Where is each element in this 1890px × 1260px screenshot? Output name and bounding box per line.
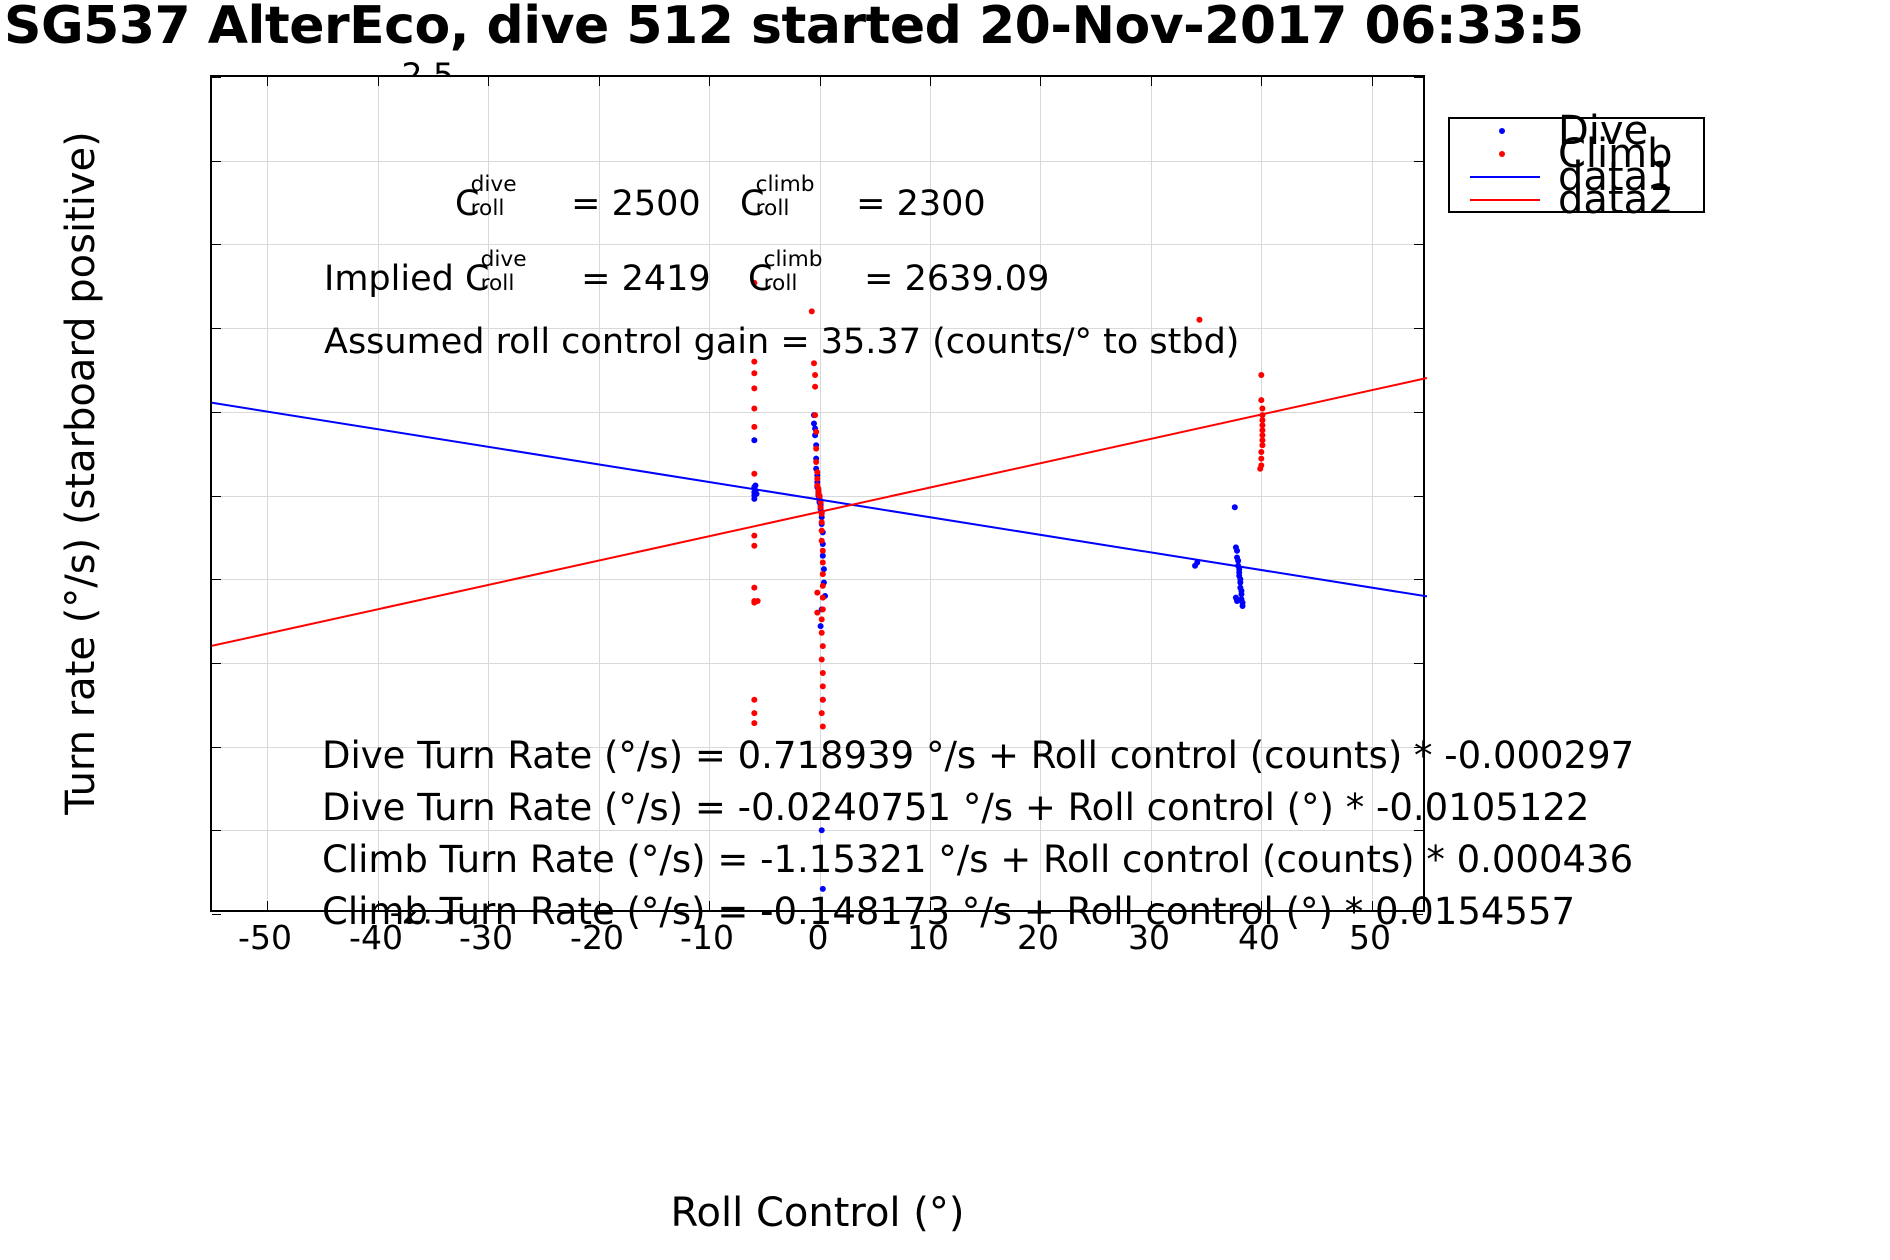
- legend-label: data2: [1558, 180, 1674, 220]
- y-axis-label: Turn rate (°/s) (starboard positive): [58, 68, 104, 878]
- data-point: [751, 720, 757, 726]
- y-tick: [1414, 244, 1423, 245]
- x-tick: [1151, 901, 1152, 910]
- data-point: [751, 437, 757, 443]
- data-point: [819, 710, 825, 716]
- x-tick: [1261, 77, 1262, 86]
- c-roll-dive-eq: =: [571, 184, 600, 224]
- y-tick: [212, 663, 221, 664]
- data-point: [820, 606, 826, 612]
- implied-climb-eq: =: [864, 259, 893, 299]
- x-tick: [820, 901, 821, 910]
- x-tick: [267, 77, 268, 86]
- data-point: [751, 533, 757, 539]
- data-point: [1234, 548, 1240, 554]
- data-point: [1258, 456, 1264, 462]
- annotation-c-roll-dive: Cdiveroll = 2500: [455, 187, 701, 222]
- x-tick-label: -50: [238, 918, 292, 957]
- data-point: [814, 590, 820, 596]
- y-tick: [212, 747, 221, 748]
- data-point: [813, 446, 819, 452]
- data-point: [820, 643, 826, 649]
- data-point: [820, 683, 826, 689]
- data-point: [820, 583, 826, 589]
- implied-dive-symbol: Cdiveroll: [465, 262, 570, 297]
- data-point: [751, 370, 757, 376]
- implied-dive-value: 2419: [622, 259, 711, 299]
- data-point: [751, 424, 757, 430]
- annotation-implied-dive: Implied Cdiveroll = 2419: [324, 262, 711, 297]
- x-tick: [820, 77, 821, 86]
- x-tick: [930, 901, 931, 910]
- x-axis-label: Roll Control (°): [210, 1190, 1425, 1236]
- y-tick: [212, 914, 221, 915]
- x-tick: [267, 901, 268, 910]
- data-point: [811, 421, 817, 427]
- data-point: [751, 405, 757, 411]
- y-tick: [212, 77, 221, 78]
- y-tick: [1414, 412, 1423, 413]
- data-point: [820, 548, 826, 554]
- x-tick: [1372, 901, 1373, 910]
- y-tick: [212, 496, 221, 497]
- data-point: [809, 308, 815, 314]
- data-point: [1259, 442, 1265, 448]
- data-point: [814, 610, 820, 616]
- annotation-roll-gain: Assumed roll control gain = 35.37 (count…: [324, 325, 1239, 360]
- x-tick: [488, 901, 489, 910]
- plot-area: Cdiveroll = 2500 Cclimbroll = 2300 Impli…: [210, 75, 1425, 912]
- figure-title: SG537 AlterEco, dive 512 started 20-Nov-…: [0, 0, 1890, 56]
- legend-marker-line-icon: [1470, 199, 1540, 201]
- y-tick: [1414, 579, 1423, 580]
- equation-line-0: Dive Turn Rate (°/s) = 0.718939 °/s + Ro…: [322, 737, 1634, 774]
- figure-root: SG537 AlterEco, dive 512 started 20-Nov-…: [0, 0, 1890, 1260]
- y-tick: [1414, 830, 1423, 831]
- x-tick: [709, 77, 710, 86]
- data-point: [819, 528, 825, 534]
- data-point: [818, 623, 824, 629]
- data-point: [1258, 372, 1264, 378]
- data-point: [1240, 603, 1246, 609]
- x-tick: [1040, 77, 1041, 86]
- regression-line-data1: [212, 403, 1427, 597]
- data-point: [819, 616, 825, 622]
- implied-prefix: Implied: [324, 259, 454, 299]
- x-tick: [599, 901, 600, 910]
- data-point: [812, 412, 818, 418]
- x-tick: [1372, 77, 1373, 86]
- data-point: [813, 459, 819, 465]
- x-tick: [378, 901, 379, 910]
- data-point: [751, 471, 757, 477]
- data-point: [819, 519, 825, 525]
- c-roll-climb-eq: =: [856, 184, 885, 224]
- legend-marker-dot-icon: [1499, 128, 1505, 134]
- y-tick: [212, 328, 221, 329]
- y-tick: [1414, 496, 1423, 497]
- data-point: [1257, 466, 1263, 472]
- data-point: [1259, 405, 1265, 411]
- data-point: [814, 469, 820, 475]
- y-tick: [1414, 663, 1423, 664]
- annotation-implied-climb: Cclimbroll = 2639.09: [748, 262, 1049, 297]
- data-point: [755, 598, 761, 604]
- equation-line-3: Climb Turn Rate (°/s) = -0.148173 °/s + …: [322, 893, 1575, 930]
- data-point: [1258, 449, 1264, 455]
- data-point: [751, 385, 757, 391]
- data-point: [1234, 598, 1240, 604]
- data-point: [820, 571, 826, 577]
- data-point: [820, 724, 826, 730]
- x-tick: [488, 77, 489, 86]
- data-point: [813, 429, 819, 435]
- c-roll-dive-value: 2500: [612, 184, 701, 224]
- y-tick: [1414, 161, 1423, 162]
- equation-line-2: Climb Turn Rate (°/s) = -1.15321 °/s + R…: [322, 841, 1633, 878]
- x-tick: [1261, 901, 1262, 910]
- y-tick: [212, 161, 221, 162]
- x-tick: [709, 901, 710, 910]
- y-tick: [1414, 914, 1423, 915]
- y-tick: [212, 579, 221, 580]
- y-tick: [212, 244, 221, 245]
- x-tick: [378, 77, 379, 86]
- data-point: [820, 595, 826, 601]
- c-roll-climb-value: 2300: [897, 184, 986, 224]
- data-point: [812, 384, 818, 390]
- y-tick: [1414, 77, 1423, 78]
- data-point: [819, 657, 825, 663]
- x-tick: [1151, 77, 1152, 86]
- y-tick: [212, 412, 221, 413]
- data-point: [751, 543, 757, 549]
- implied-dive-eq: =: [581, 259, 610, 299]
- x-tick: [1040, 901, 1041, 910]
- data-point: [819, 630, 825, 636]
- c-roll-climb-symbol: Cclimbroll: [740, 187, 845, 222]
- data-point: [1258, 397, 1264, 403]
- implied-climb-value: 2639.09: [905, 259, 1050, 299]
- x-tick: [930, 77, 931, 86]
- data-point: [820, 559, 826, 565]
- data-point: [812, 372, 818, 378]
- data-point: [820, 697, 826, 703]
- legend[interactable]: DiveClimbdata1data2: [1448, 117, 1705, 213]
- data-point: [819, 538, 825, 544]
- data-point: [751, 697, 757, 703]
- data-point: [1232, 504, 1238, 510]
- data-point: [818, 504, 824, 510]
- implied-climb-symbol: Cclimbroll: [748, 262, 853, 297]
- data-point: [821, 566, 827, 572]
- data-point: [814, 476, 820, 482]
- y-tick: [212, 830, 221, 831]
- y-tick: [1414, 328, 1423, 329]
- legend-marker-dot-icon: [1499, 151, 1505, 157]
- equation-line-1: Dive Turn Rate (°/s) = -0.0240751 °/s + …: [322, 789, 1589, 826]
- data-point: [820, 670, 826, 676]
- data-point: [751, 585, 757, 591]
- data-point: [754, 491, 760, 497]
- annotation-c-roll-climb: Cclimbroll = 2300: [740, 187, 986, 222]
- y-tick: [1414, 747, 1423, 748]
- c-roll-dive-symbol: Cdiveroll: [455, 187, 560, 222]
- legend-marker-line-icon: [1470, 176, 1540, 178]
- legend-item-data2[interactable]: data2: [1450, 188, 1703, 211]
- x-tick: [599, 77, 600, 86]
- data-point: [751, 710, 757, 716]
